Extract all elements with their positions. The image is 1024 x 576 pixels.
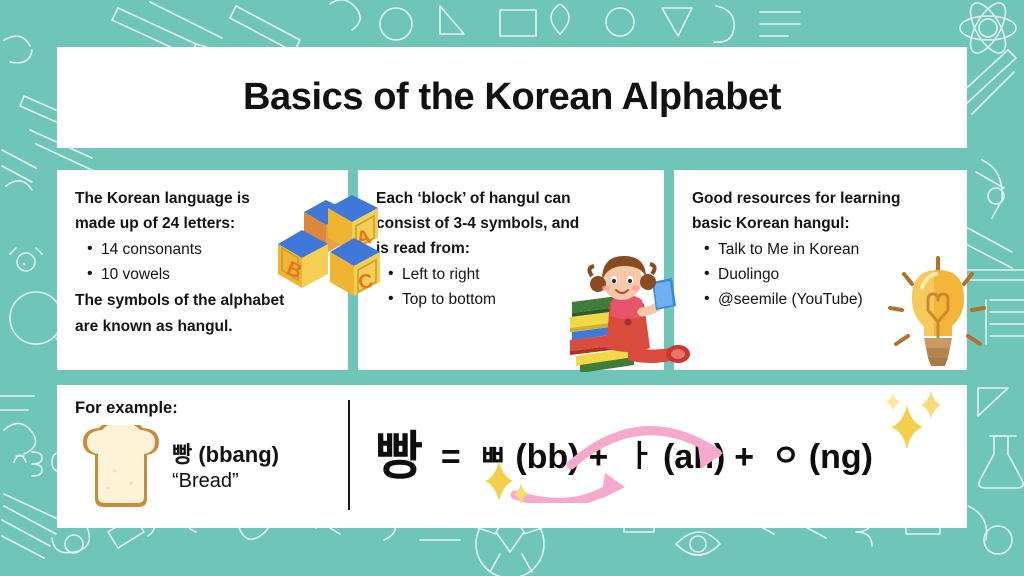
panel-2-body: Each ‘block’ of hangul can consist of 3-… [358,170,664,313]
equation-result: 빵 [375,431,423,483]
panel-2-line-3: is read from: [376,236,650,261]
list-item: @seemile (YouTube) [718,287,953,312]
bread-slice-icon [75,425,167,511]
vertical-divider [348,400,350,510]
equation-roman-2: (ah) [663,440,725,474]
panel-1-line-3: The symbols of the alphabet [75,288,334,313]
panel-1-line-4: are known as hangul. [75,314,334,339]
example-gloss: “Bread” [172,470,239,493]
slide-canvas: Basics of the Korean Alphabet The Korean… [0,0,1024,576]
equation-roman-1: (bb) [515,440,579,474]
panel-3-bullet-list: Talk to Me in Korean Duolingo @seemile (… [692,237,953,312]
equation-equals: = [441,440,461,474]
equation-plus-2: + [734,440,754,474]
list-item: Left to right [402,262,650,287]
info-panel-blocks: Each ‘block’ of hangul can consist of 3-… [358,170,664,370]
panel-1-body: The Korean language is made up of 24 let… [57,170,348,339]
info-panel-resources: Good resources for learning basic Korean… [674,170,967,370]
equation-jamo-2: ㅏ [626,442,654,472]
panel-3-line-2: basic Korean hangul: [692,211,953,236]
panel-3-body: Good resources for learning basic Korean… [674,170,967,313]
panel-1-line-2: made up of 24 letters: [75,211,334,236]
list-item: Top to bottom [402,287,650,312]
list-item: 14 consonants [101,237,334,262]
equation-roman-3: (ng) [809,440,873,474]
example-panel: For example: 빵 (bbang) “Bread” 빵 = ㅃ [57,385,967,528]
equation-jamo-1: ㅃ [479,442,507,472]
info-panel-letters: The Korean language is made up of 24 let… [57,170,348,370]
title-panel: Basics of the Korean Alphabet [57,47,967,148]
list-item: 10 vowels [101,262,334,287]
panel-2-line-2: consist of 3-4 symbols, and [376,211,650,236]
panel-1-line-1: The Korean language is [75,186,334,211]
example-word: 빵 (bbang) [172,437,279,469]
panel-1-bullet-list: 14 consonants 10 vowels [75,237,334,287]
for-example-label: For example: [75,399,178,418]
panel-2-line-1: Each ‘block’ of hangul can [376,186,650,211]
page-title: Basics of the Korean Alphabet [243,76,781,119]
hangul-equation: 빵 = ㅃ (bb) + ㅏ (ah) + ㅇ (ng) [375,407,955,507]
equation-jamo-3: ㅇ [772,442,800,472]
panel-3-line-1: Good resources for learning [692,186,953,211]
equation-plus-1: + [589,440,609,474]
panel-2-bullet-list: Left to right Top to bottom [376,262,650,312]
list-item: Duolingo [718,262,953,287]
list-item: Talk to Me in Korean [718,237,953,262]
